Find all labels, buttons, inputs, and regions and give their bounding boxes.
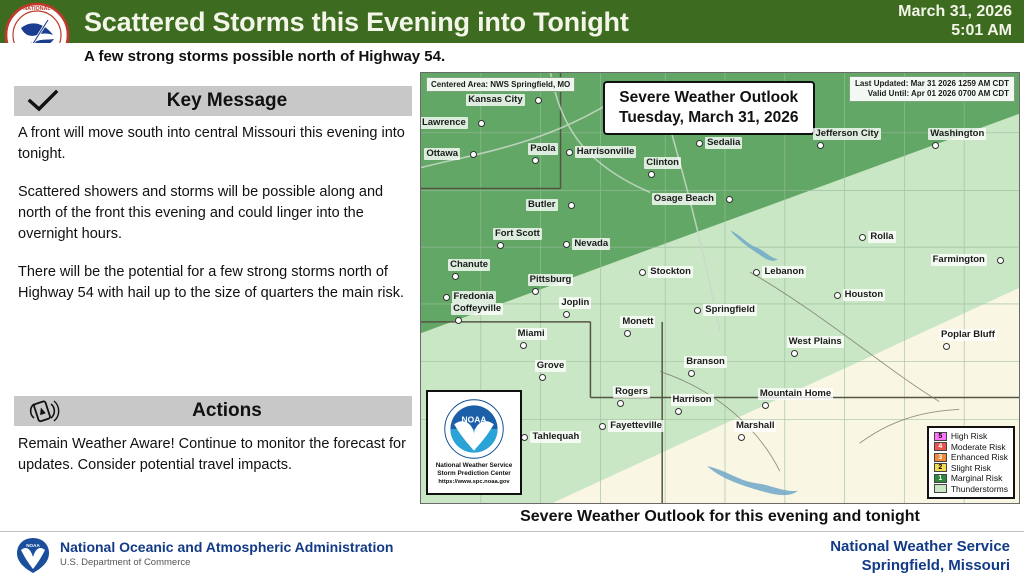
svg-text:NOAA: NOAA <box>462 414 487 424</box>
city-label: Farmington <box>931 254 987 266</box>
key-message-header: Key Message <box>14 86 412 116</box>
city-dot-icon <box>443 294 450 301</box>
city-dot-icon <box>762 402 769 409</box>
city-label: Mountain Home <box>758 388 833 400</box>
city-label: Monett <box>620 316 655 328</box>
city-label: Rogers <box>613 386 650 398</box>
spc-line2: Storm Prediction Center <box>437 470 511 478</box>
risk-legend: 5High Risk4Moderate Risk3Enhanced Risk2S… <box>927 426 1015 499</box>
city-label: Joplin <box>559 297 591 309</box>
svg-text:NOAA: NOAA <box>26 543 40 548</box>
footer-office-line1: National Weather Service <box>690 537 1010 556</box>
legend-label: Enhanced Risk <box>951 452 1008 463</box>
city-label: Houston <box>843 289 886 301</box>
subheader-text: A few strong storms possible north of Hi… <box>84 45 445 69</box>
noaa-logo-icon: NOAA <box>441 396 507 462</box>
city-label: Poplar Bluff <box>939 329 997 341</box>
city-dot-icon <box>568 202 575 209</box>
legend-swatch: 2 <box>934 463 947 472</box>
legend-label: Thunderstorms <box>951 484 1008 495</box>
city-label: Washington <box>928 128 986 140</box>
map-title-line1: Severe Weather Outlook <box>619 88 799 108</box>
city-dot-icon <box>563 241 570 248</box>
footer-noaa-subtitle: U.S. Department of Commerce <box>60 556 190 569</box>
key-message-paragraph: A front will move south into central Mis… <box>18 123 410 165</box>
city-label: Osage Beach <box>652 193 716 205</box>
key-message-paragraph: Scattered showers and storms will be pos… <box>18 182 410 245</box>
page-title: Scattered Storms this Evening into Tonig… <box>84 4 784 40</box>
city-label: Nevada <box>572 238 610 250</box>
city-dot-icon <box>696 140 703 147</box>
valid-until-text: Valid Until: Apr 01 2026 0700 AM CDT <box>855 89 1009 99</box>
centered-area-label: Centered Area: NWS Springfield, MO <box>426 77 575 92</box>
legend-row: 3Enhanced Risk <box>934 452 1008 463</box>
actions-paragraph: Remain Weather Aware! Continue to monito… <box>18 434 410 476</box>
spc-line1: National Weather Service <box>436 462 513 470</box>
legend-swatch <box>934 484 947 493</box>
legend-row: Thunderstorms <box>934 484 1008 495</box>
city-dot-icon <box>617 400 624 407</box>
city-label: Grove <box>535 360 566 372</box>
city-label: Fredonia <box>452 291 496 303</box>
city-label: Marshall <box>734 420 777 432</box>
city-label: Lebanon <box>762 266 806 278</box>
city-dot-icon <box>791 350 798 357</box>
legend-label: Slight Risk <box>951 463 991 474</box>
legend-swatch: 1 <box>934 474 947 483</box>
city-label: Ottawa <box>424 148 460 160</box>
city-label: Fayetteville <box>608 420 664 432</box>
city-label: West Plains <box>787 336 844 348</box>
legend-row: 5High Risk <box>934 431 1008 442</box>
city-label: Pittsburg <box>528 274 574 286</box>
legend-row: 4Moderate Risk <box>934 442 1008 453</box>
city-label: Clinton <box>644 157 681 169</box>
key-message-body: A front will move south into central Mis… <box>18 123 410 304</box>
key-message-title: Key Message <box>14 86 412 116</box>
city-dot-icon <box>566 149 573 156</box>
last-updated-text: Last Updated: Mar 31 2026 1259 AM CDT <box>855 79 1009 89</box>
map-caption: Severe Weather Outlook for this evening … <box>420 506 1020 528</box>
legend-swatch: 5 <box>934 432 947 441</box>
city-dot-icon <box>688 370 695 377</box>
city-label: Jefferson City <box>813 128 880 140</box>
city-label: Harrison <box>671 394 714 406</box>
city-dot-icon <box>539 374 546 381</box>
map-updated-box: Last Updated: Mar 31 2026 1259 AM CDT Va… <box>849 76 1015 102</box>
city-label: Kansas City <box>466 94 524 106</box>
city-label: Chanute <box>448 259 490 271</box>
spc-logo-box: NOAA National Weather Service Storm Pred… <box>426 390 522 495</box>
city-dot-icon <box>532 288 539 295</box>
city-label: Stockton <box>648 266 693 278</box>
actions-body: Remain Weather Aware! Continue to monito… <box>18 434 410 476</box>
legend-label: High Risk <box>951 431 987 442</box>
map-title-line2: Tuesday, March 31, 2026 <box>619 108 799 128</box>
city-dot-icon <box>535 97 542 104</box>
city-label: Miami <box>516 328 547 340</box>
city-label: Coffeyville <box>451 303 503 315</box>
city-label: Springfield <box>703 304 757 316</box>
map-title-box: Severe Weather Outlook Tuesday, March 31… <box>603 81 815 135</box>
noaa-footer-logo-icon: NOAA <box>14 536 52 574</box>
svg-text:NATIONAL: NATIONAL <box>23 6 51 12</box>
city-dot-icon <box>675 408 682 415</box>
actions-title: Actions <box>14 396 412 426</box>
footer-noaa-title: National Oceanic and Atmospheric Adminis… <box>60 538 393 556</box>
city-dot-icon <box>520 342 527 349</box>
city-label: Lawrence <box>420 117 468 129</box>
legend-swatch: 3 <box>934 453 947 462</box>
header-time: 5:01 AM <box>792 21 1012 41</box>
spc-url: https://www.spc.noaa.gov <box>438 478 509 486</box>
city-label: Harrisonville <box>575 146 637 158</box>
city-dot-icon <box>834 292 841 299</box>
city-dot-icon <box>497 242 504 249</box>
city-label: Tahlequah <box>530 431 581 443</box>
city-label: Fort Scott <box>493 228 542 240</box>
legend-row: 1Marginal Risk <box>934 473 1008 484</box>
legend-label: Moderate Risk <box>951 442 1006 453</box>
actions-header: Actions <box>14 396 412 426</box>
city-label: Branson <box>684 356 727 368</box>
city-label: Butler <box>526 199 557 211</box>
header-date: March 31, 2026 <box>792 2 1012 22</box>
city-label: Rolla <box>868 231 895 243</box>
legend-swatch: 4 <box>934 442 947 451</box>
city-dot-icon <box>997 257 1004 264</box>
legend-label: Marginal Risk <box>951 473 1003 484</box>
city-dot-icon <box>624 330 631 337</box>
key-message-paragraph: There will be the potential for a few st… <box>18 262 410 304</box>
city-label: Sedalia <box>705 137 742 149</box>
legend-row: 2Slight Risk <box>934 463 1008 474</box>
severe-weather-outlook-map[interactable]: Centered Area: NWS Springfield, MO Last … <box>420 72 1020 504</box>
footer-office-line2: Springfield, Missouri <box>690 556 1010 575</box>
city-label: Paola <box>528 143 557 155</box>
